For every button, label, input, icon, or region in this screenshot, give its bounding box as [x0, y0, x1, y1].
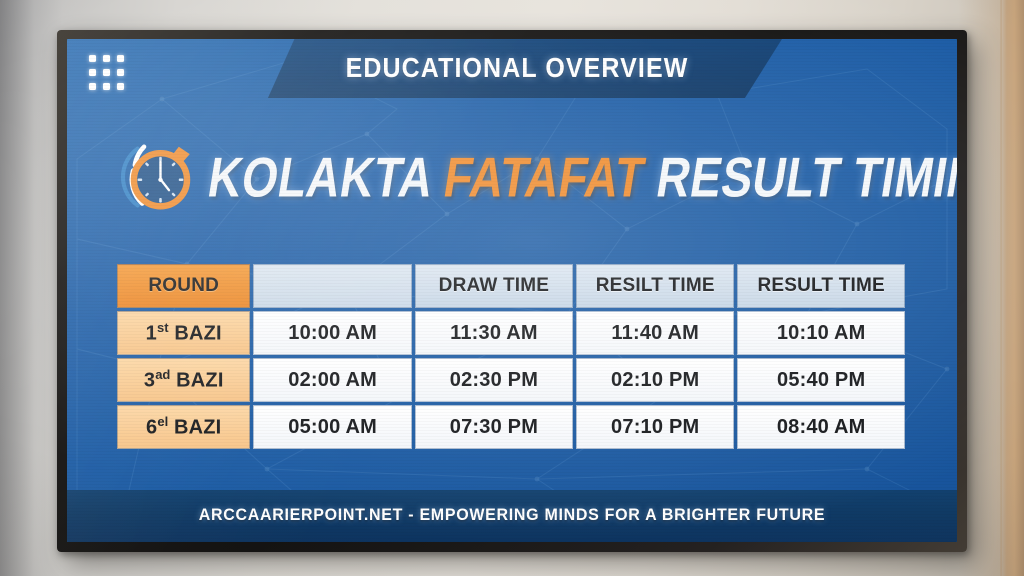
round-number: 3: [144, 370, 155, 392]
title-part-kolakta: KOLAKTA: [204, 145, 437, 208]
cell-draw-time: 02:30 PM: [415, 358, 573, 402]
wall-shadow-left: [0, 0, 62, 576]
cell-col2: 10:00 AM: [253, 311, 411, 355]
table-header-row: ROUND DRAW TIME RESILT TIME RESULT TIME: [117, 264, 905, 308]
cell-result-time: 10:10 AM: [737, 311, 905, 355]
timings-table-wrapper: ROUND DRAW TIME RESILT TIME RESULT TIME …: [114, 261, 908, 452]
grid-dot: [89, 69, 96, 76]
grid-dots-icon: [89, 55, 124, 90]
header-banner-title: EDUCATIONAL OVERVIEW: [346, 52, 689, 84]
table-header-draw-time: DRAW TIME: [415, 264, 573, 308]
round-word: BAZI: [174, 323, 221, 345]
round-label-cell: 6el BAZI: [117, 405, 250, 449]
cell-col2: 05:00 AM: [253, 405, 411, 449]
grid-dot: [103, 69, 110, 76]
cell-draw-time: 11:30 AM: [415, 311, 573, 355]
title-part-result-timings: RESULT TIMINGS: [652, 145, 957, 208]
round-ordinal: el: [157, 414, 168, 429]
table-header-blank: [253, 264, 411, 308]
round-label-cell: 1st BAZI: [117, 311, 250, 355]
round-ordinal: st: [157, 320, 169, 335]
wall-wood-trim: [1000, 0, 1024, 576]
grid-dot: [117, 55, 124, 62]
table-row: 6el BAZI 05:00 AM 07:30 PM 07:10 PM 08:4…: [117, 405, 905, 449]
table-row: 1st BAZI 10:00 AM 11:30 AM 11:40 AM 10:1…: [117, 311, 905, 355]
room-wall: EDUCATIONAL OVERVIEW: [0, 0, 1024, 576]
grid-dot: [89, 55, 96, 62]
table-row: 3ad BAZI 02:00 AM 02:30 PM 02:10 PM 05:4…: [117, 358, 905, 402]
footer-band: ARCCAARIERPOINT.NET - EMPOWERING MINDS F…: [67, 490, 957, 542]
table-header-result-time: RESULT TIME: [737, 264, 905, 308]
grid-dot: [117, 69, 124, 76]
stopwatch-icon: [109, 134, 201, 220]
timings-table: ROUND DRAW TIME RESILT TIME RESULT TIME …: [114, 261, 908, 452]
round-number: 1: [146, 323, 157, 345]
display-screen: EDUCATIONAL OVERVIEW: [67, 39, 957, 542]
grid-dot: [103, 55, 110, 62]
table-header-round: ROUND: [117, 264, 250, 308]
page-title: KOLAKTA FATAFAT RESULT TIMINGS: [205, 149, 957, 205]
wall-display-bezel: EDUCATIONAL OVERVIEW: [57, 30, 967, 552]
round-word: BAZI: [174, 417, 221, 439]
round-ordinal: ad: [155, 367, 170, 382]
table-header-resilt-time: RESILT TIME: [576, 264, 734, 308]
cell-result-time: 08:40 AM: [737, 405, 905, 449]
title-part-fatafat: FATAFAT: [440, 145, 650, 208]
cell-resilt-time: 07:10 PM: [576, 405, 734, 449]
footer-text: ARCCAARIERPOINT.NET - EMPOWERING MINDS F…: [199, 506, 826, 525]
cell-result-time: 05:40 PM: [737, 358, 905, 402]
cell-col2: 02:00 AM: [253, 358, 411, 402]
grid-dot: [89, 83, 96, 90]
cell-draw-time: 07:30 PM: [415, 405, 573, 449]
grid-dot: [103, 83, 110, 90]
header-banner: EDUCATIONAL OVERVIEW: [252, 39, 782, 98]
cell-resilt-time: 11:40 AM: [576, 311, 734, 355]
grid-dot: [117, 83, 124, 90]
round-number: 6: [146, 417, 157, 439]
cell-resilt-time: 02:10 PM: [576, 358, 734, 402]
hero-title-row: KOLAKTA FATAFAT RESULT TIMINGS: [67, 131, 957, 223]
round-label-cell: 3ad BAZI: [117, 358, 250, 402]
round-word: BAZI: [176, 370, 223, 392]
